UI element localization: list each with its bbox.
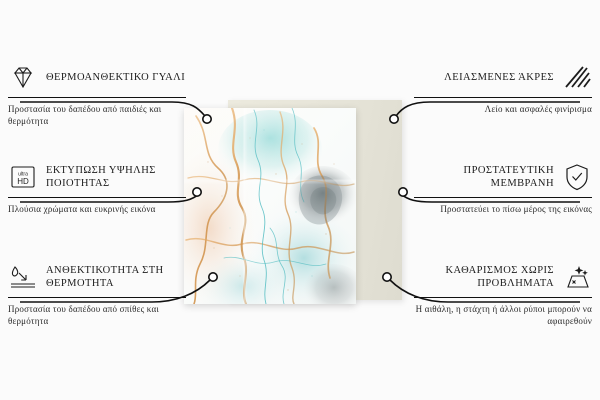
feature-title: ΑΝΘΕΚΤΙΚΟΤΗΤΑ ΣΤΗ ΘΕΡΜΟΤΗΤΑ	[46, 264, 186, 290]
feature-header: ΑΝΘΕΚΤΙΚΟΤΗΤΑ ΣΤΗ ΘΕΡΜΟΤΗΤΑ	[8, 262, 186, 292]
feature-block-polished-edges: ΛΕΙΑΣΜΕΝΕΣ ΆΚΡΕΣ Λείο και ασφαλές φινίρι…	[414, 62, 592, 115]
feature-description: Λείο και ασφαλές φινίρισμα	[414, 103, 592, 115]
abstract-marble-artwork	[184, 108, 356, 304]
feature-block-easy-cleaning: ΚΑΘΑΡΙΣΜΟΣ ΧΩΡΙΣ ΠΡΟΒΛΗΜΑΤΑ Η αιθάλη, η …	[414, 262, 592, 327]
feature-block-heat-durability: ΑΝΘΕΚΤΙΚΟΤΗΤΑ ΣΤΗ ΘΕΡΜΟΤΗΤΑ Προστασία το…	[8, 262, 186, 327]
feature-block-heat-resistant-glass: ΘΕΡΜΟΑΝΘΕΚΤΙΚΟ ΓΥΑΛΙ Προστασία του δαπέδ…	[8, 62, 186, 127]
feature-divider	[8, 297, 186, 298]
product-image	[176, 100, 424, 310]
feature-title: ΚΑΘΑΡΙΣΜΟΣ ΧΩΡΙΣ ΠΡΟΒΛΗΜΑΤΑ	[414, 264, 554, 290]
feature-header: ultra HD ΕΚΤΥΠΩΣΗ ΥΨΗΛΗΣ ΠΟΙΟΤΗΤΑΣ	[8, 162, 186, 192]
heat-resistance-icon	[8, 262, 38, 292]
feature-description: Προστατεύει το πίσω μέρος της εικόνας	[414, 203, 592, 215]
feature-header: ΚΑΘΑΡΙΣΜΟΣ ΧΩΡΙΣ ΠΡΟΒΛΗΜΑΤΑ	[414, 262, 592, 292]
feature-block-protective-film: ΠΡΟΣΤΑΤΕΥΤΙΚΗ ΜΕΜΒΡΑΝΗ Προστατεύει το πί…	[414, 162, 592, 215]
feature-description: Πλούσια χρώματα και ευκρινής εικόνα	[8, 203, 186, 215]
feature-divider	[414, 297, 592, 298]
feature-divider	[414, 197, 592, 198]
feature-title: ΘΕΡΜΟΑΝΘΕΚΤΙΚΟ ΓΥΑΛΙ	[46, 71, 186, 84]
product-glass-panel	[184, 108, 356, 304]
feature-title: ΠΡΟΣΤΑΤΕΥΤΙΚΗ ΜΕΜΒΡΑΝΗ	[414, 164, 554, 190]
shield-check-icon	[562, 162, 592, 192]
feature-divider	[414, 97, 592, 98]
feature-header: ΘΕΡΜΟΑΝΘΕΚΤΙΚΟ ΓΥΑΛΙ	[8, 62, 186, 92]
product-feature-infographic: ΘΕΡΜΟΑΝΘΕΚΤΙΚΟ ΓΥΑΛΙ Προστασία του δαπέδ…	[0, 0, 600, 400]
feature-description: Προστασία του δαπέδου από παιδιές και θε…	[8, 103, 186, 127]
diamond-icon	[8, 62, 38, 92]
feature-divider	[8, 197, 186, 198]
feature-block-high-quality-print: ultra HD ΕΚΤΥΠΩΣΗ ΥΨΗΛΗΣ ΠΟΙΟΤΗΤΑΣ Πλούσ…	[8, 162, 186, 215]
feature-divider	[8, 97, 186, 98]
sparkle-clean-icon	[562, 262, 592, 292]
feature-title: ΛΕΙΑΣΜΕΝΕΣ ΆΚΡΕΣ	[414, 71, 554, 84]
feature-header: ΠΡΟΣΤΑΤΕΥΤΙΚΗ ΜΕΜΒΡΑΝΗ	[414, 162, 592, 192]
ultra-hd-icon: ultra HD	[8, 162, 38, 192]
polished-edges-icon	[562, 62, 592, 92]
feature-header: ΛΕΙΑΣΜΕΝΕΣ ΆΚΡΕΣ	[414, 62, 592, 92]
feature-title: ΕΚΤΥΠΩΣΗ ΥΨΗΛΗΣ ΠΟΙΟΤΗΤΑΣ	[46, 164, 186, 190]
svg-text:HD: HD	[17, 177, 29, 186]
feature-description: Η αιθάλη, η στάχτη ή άλλοι ρύποι μπορούν…	[414, 303, 592, 327]
feature-description: Προστασία του δαπέδου από σπίθες και θερ…	[8, 303, 186, 327]
